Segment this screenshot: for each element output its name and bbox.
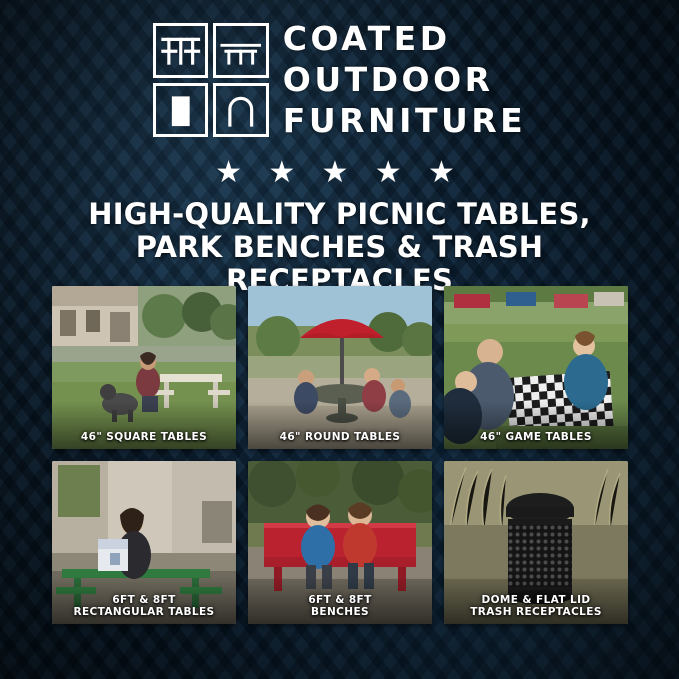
brand-line-2: OUTDOOR	[283, 60, 526, 100]
tile-caption: 46" SQUARE TABLES	[52, 431, 236, 443]
logo-mark	[153, 23, 269, 137]
star-rating: ★ ★ ★ ★ ★	[0, 156, 679, 190]
tile-game-tables[interactable]: 46" GAME TABLES	[444, 286, 628, 449]
tile-rectangular-tables[interactable]: 6FT & 8FT RECTANGULAR TABLES	[52, 461, 236, 624]
tile-caption: DOME & FLAT LID TRASH RECEPTACLES	[444, 594, 628, 618]
tile-caption: 6FT & 8FT BENCHES	[248, 594, 432, 618]
advertisement-banner: COATED OUTDOOR FURNITURE ★ ★ ★ ★ ★ HIGH-…	[0, 0, 679, 679]
tile-caption: 46" GAME TABLES	[444, 431, 628, 443]
tile-round-tables[interactable]: 46" ROUND TABLES	[248, 286, 432, 449]
brand-line-3: FURNITURE	[283, 101, 526, 141]
brand-wordmark: COATED OUTDOOR FURNITURE	[283, 19, 526, 141]
tile-caption: 6FT & 8FT RECTANGULAR TABLES	[52, 594, 236, 618]
brand-logo: COATED OUTDOOR FURNITURE	[0, 20, 679, 140]
trash-receptacle-icon	[153, 83, 209, 138]
picnic-table-icon	[153, 23, 209, 78]
headline-text: HIGH-QUALITY PICNIC TABLES, PARK BENCHES…	[40, 198, 639, 297]
tile-trash-receptacles[interactable]: DOME & FLAT LID TRASH RECEPTACLES	[444, 461, 628, 624]
tile-square-tables[interactable]: 46" SQUARE TABLES	[52, 286, 236, 449]
park-bench-icon	[213, 23, 269, 78]
tile-caption: 46" ROUND TABLES	[248, 431, 432, 443]
tile-benches[interactable]: 6FT & 8FT BENCHES	[248, 461, 432, 624]
star-rating-glyphs: ★ ★ ★ ★ ★	[215, 156, 464, 190]
brand-line-1: COATED	[283, 19, 526, 59]
product-tile-grid: 46" SQUARE TABLES	[52, 286, 628, 624]
arch-bench-icon	[213, 83, 269, 138]
